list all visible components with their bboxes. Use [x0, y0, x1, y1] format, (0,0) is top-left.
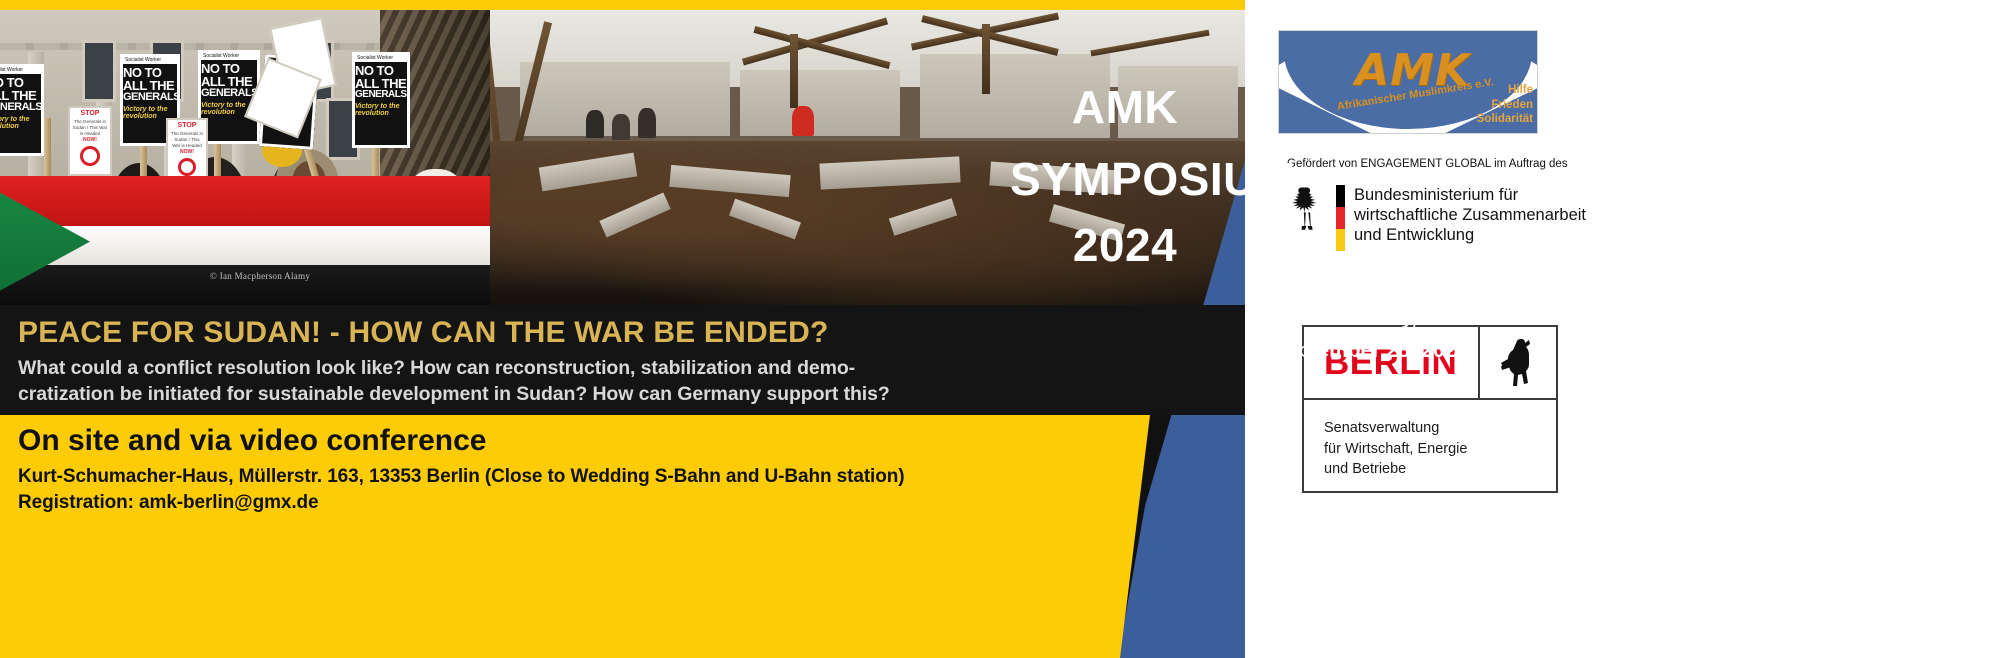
stop-header: STOP	[170, 122, 204, 129]
survivor-red-shirt	[792, 106, 814, 136]
berlin-line-2: für Wirtschaft, Energie	[1324, 439, 1556, 460]
funding-note: Gefördert von ENGAGEMENT GLOBAL im Auftr…	[1287, 158, 1568, 170]
event-date: September 28, 2024	[1255, 335, 1485, 368]
placard-line3: GENERALS	[0, 102, 41, 113]
registration-line: Registration: amk-berlin@gmx.de	[18, 492, 318, 514]
german-flag-bars	[1336, 185, 1345, 251]
placard-victory: Victory to the revolution	[355, 103, 407, 117]
event-date-block: Saturday, September 28, 2024 10 am - 4 p…	[1255, 302, 1485, 400]
sudan-flag-banner	[0, 176, 490, 307]
placard-line3: GENERALS	[355, 90, 407, 100]
stop-now: NOW!	[72, 137, 108, 143]
survivor	[612, 114, 630, 140]
placard-header: Socialist Worker	[355, 55, 407, 62]
amk-logo: AMK Afrikanischer Muslimkreis e.V. Hilfe…	[1278, 30, 1538, 134]
amk-tag-solidaritat: Solidarität	[1477, 112, 1533, 127]
prohibition-icon	[178, 158, 196, 176]
flag-red-stripe	[0, 176, 490, 226]
event-day: Saturday,	[1255, 302, 1485, 335]
berlin-department-name: Senatsverwaltung für Wirtschaft, Energie…	[1304, 400, 1556, 491]
berlin-bear-cell	[1478, 327, 1556, 398]
placard-header: Socialist Worker	[201, 53, 257, 60]
protest-photo: Socialist Worker NO TO ALL THE GENERALS …	[0, 10, 490, 307]
berlin-line-3: und Betriebe	[1324, 459, 1556, 480]
bmz-line-3: und Entwicklung	[1354, 225, 1586, 245]
bmz-line-1: Bundesministerium für	[1354, 185, 1586, 205]
placard-no-to-all-the-generals: Socialist Worker NO TO ALL THE GENERALS …	[0, 64, 44, 156]
subtitle-text: What could a conflict resolution look li…	[18, 356, 918, 407]
photo-credit: © Ian Macpherson Alamy	[210, 271, 310, 281]
placard-line3: GENERALS	[123, 92, 177, 103]
amk-tag-frieden: Frieden	[1477, 98, 1533, 113]
venue-address: Kurt-Schumacher-Haus, Müllerstr. 163, 13…	[18, 466, 904, 488]
placard-header: Socialist Worker	[123, 57, 177, 64]
stop-now: NOW!	[170, 149, 204, 155]
berlin-line-1: Senatsverwaltung	[1324, 418, 1556, 439]
amk-taglines: Hilfe Frieden Solidarität	[1477, 83, 1533, 127]
event-time: 10 am - 4 pm	[1255, 367, 1485, 400]
symposium-year: 2024	[1010, 218, 1240, 272]
bmz-line-2: wirtschaftliche Zusammenarbeit	[1354, 205, 1586, 225]
symposium-org: AMK	[1010, 80, 1240, 134]
survivor	[638, 108, 656, 138]
survivor	[586, 110, 604, 138]
roof-beam	[790, 34, 798, 108]
prohibition-icon	[80, 146, 100, 166]
stop-body: The Generals in Sudan / This War is Head…	[170, 131, 204, 149]
berlin-bear-icon	[1498, 337, 1538, 389]
placard-victory: Victory to the revolution	[0, 116, 41, 130]
placard-line3: GENERALS	[201, 88, 257, 99]
placard-header: Socialist Worker	[0, 67, 41, 74]
stop-header: STOP	[72, 110, 108, 117]
venue-title: On site and via video conference	[18, 424, 487, 458]
bmz-ministry-name: Bundesministerium für wirtschaftliche Zu…	[1354, 185, 1586, 245]
roof-beam	[982, 24, 990, 94]
placard-no-to-all-the-generals: Socialist Worker NO TO ALL THE GENERALS …	[352, 52, 410, 148]
building-window	[82, 40, 116, 102]
bmz-logo: Bundesministerium für wirtschaftliche Zu…	[1287, 185, 1586, 251]
ruined-wall	[740, 70, 900, 136]
placard-stop: STOP The Generals in Sudan / This War is…	[68, 106, 112, 176]
page-title: PEACE FOR SUDAN! - HOW CAN THE WAR BE EN…	[18, 316, 828, 350]
stop-body: The Generals in Sudan / This War is Head…	[72, 119, 108, 137]
top-yellow-rule	[0, 0, 1245, 10]
symposium-name: SYMPOSIUM	[1010, 152, 1240, 206]
amk-tag-hilfe: Hilfe	[1477, 83, 1533, 98]
